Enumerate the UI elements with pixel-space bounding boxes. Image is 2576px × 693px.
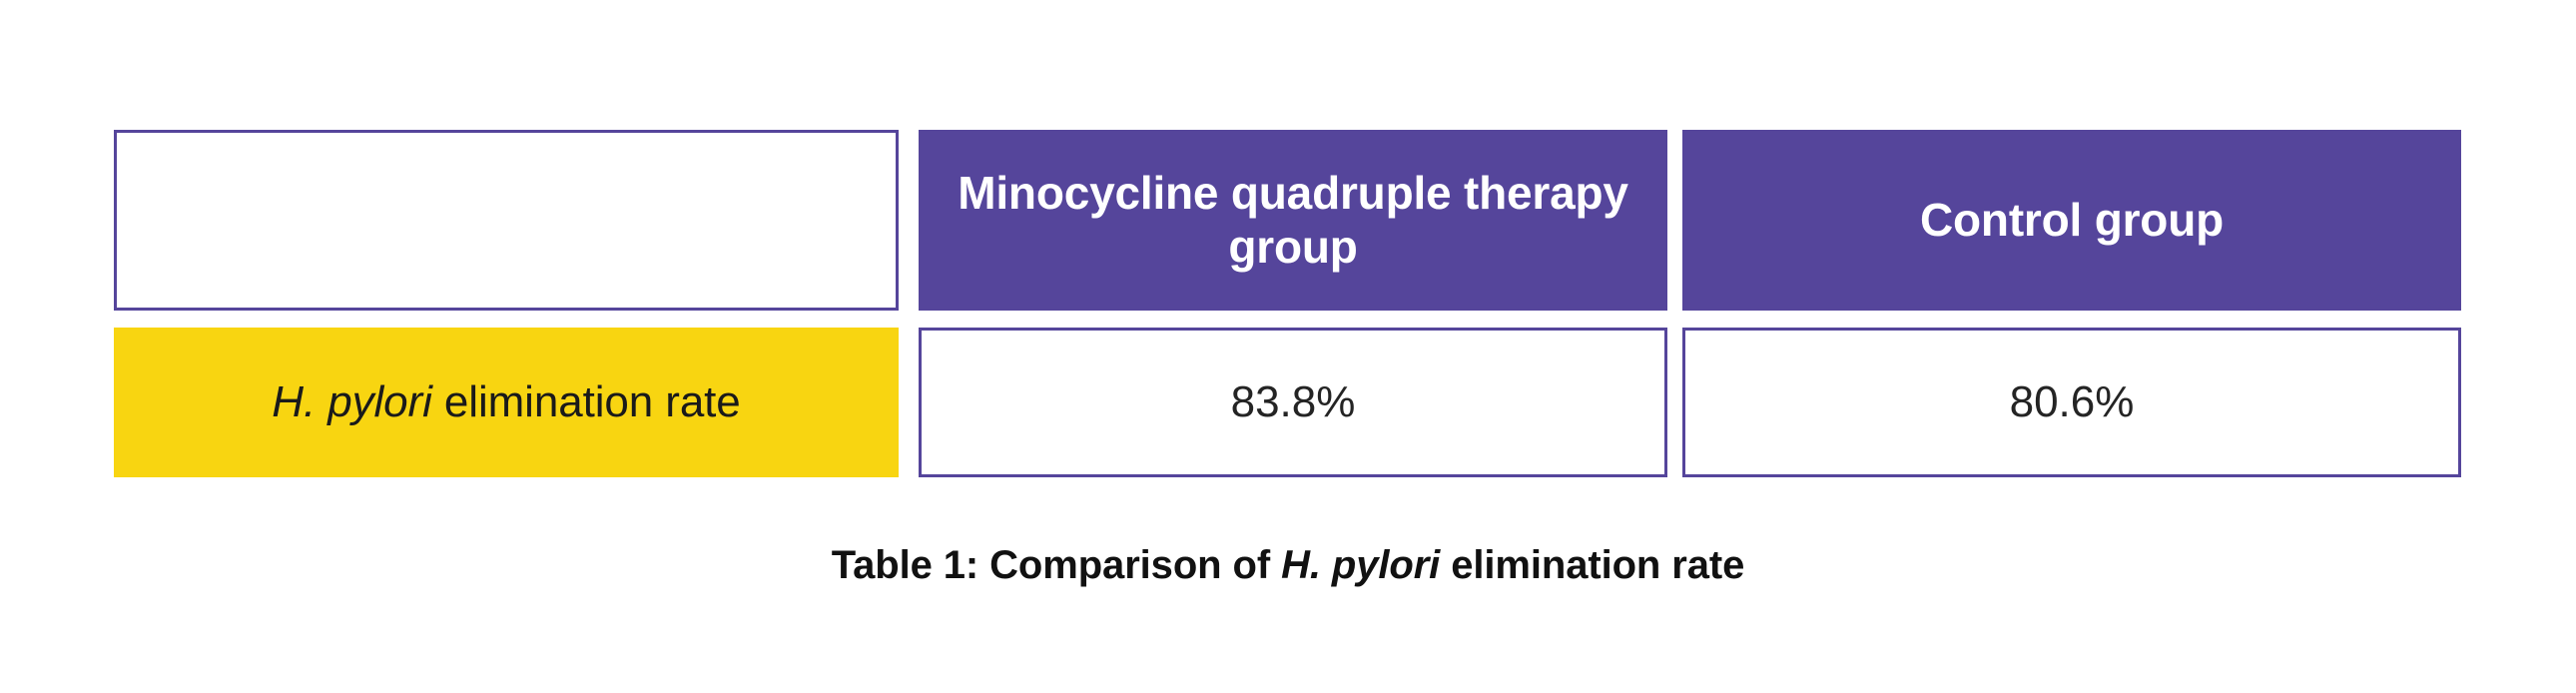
caption-suffix: elimination rate xyxy=(1440,543,1744,587)
table-corner-cell xyxy=(114,130,899,311)
value-cell-minocycline-quadruple-therapy-group: 83.8% xyxy=(919,328,1667,477)
column-header-label: Control group xyxy=(1920,194,2224,247)
caption-prefix: Table 1: Comparison of xyxy=(832,543,1281,587)
table-header-row: Minocycline quadruple therapy group Cont… xyxy=(114,130,2461,311)
column-header-control-group: Control group xyxy=(1682,130,2461,311)
comparison-table: Minocycline quadruple therapy group Cont… xyxy=(114,130,2461,477)
row-label-text: H. pylori elimination rate xyxy=(272,377,740,427)
species-name-italic: H. pylori xyxy=(272,377,431,426)
row-label-rest: elimination rate xyxy=(432,377,741,426)
column-header-minocycline-quadruple-therapy-group: Minocycline quadruple therapy group xyxy=(919,130,1667,311)
value-text: 80.6% xyxy=(2010,377,2135,427)
table-row: H. pylori elimination rate 83.8% 80.6% xyxy=(114,328,2461,477)
value-cell-control-group: 80.6% xyxy=(1682,328,2461,477)
figure-container: Minocycline quadruple therapy group Cont… xyxy=(0,0,2576,693)
row-label-h-pylori-elimination-rate: H. pylori elimination rate xyxy=(114,328,899,477)
table-caption: Table 1: Comparison of H. pylori elimina… xyxy=(0,543,2576,588)
value-text: 83.8% xyxy=(1231,377,1356,427)
caption-species-name-italic: H. pylori xyxy=(1281,543,1440,587)
column-header-label: Minocycline quadruple therapy group xyxy=(944,167,1642,274)
